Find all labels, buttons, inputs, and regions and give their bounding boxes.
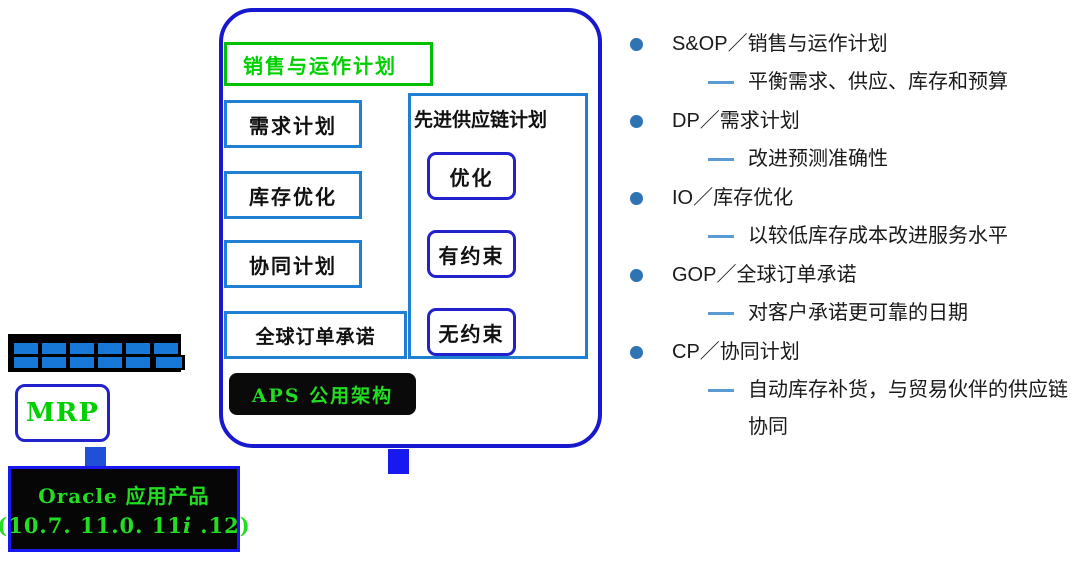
module-box-demand-planning[interactable]: 需求计划 (224, 100, 362, 148)
ascp-box-label: 优化 (450, 162, 494, 191)
list-item: IO／库存优化 以较低库存成本改进服务水平 (624, 178, 1076, 255)
module-box-inventory-optimization[interactable]: 库存优化 (224, 171, 362, 219)
data-grid-cell (156, 357, 182, 368)
bullet-level2-label: 对客户承诺更可靠的日期 (748, 302, 968, 324)
mrp-box[interactable]: MRP (15, 384, 110, 442)
dash-icon (708, 158, 734, 161)
module-box-label: 协同计划 (249, 250, 337, 279)
bullet-level1-label: DP／需求计划 (672, 110, 800, 132)
bullet-level1-label: GOP／全球订单承诺 (672, 264, 856, 286)
sop-box[interactable]: 销售与运作计划 (224, 42, 433, 86)
bullet-dot-icon (630, 346, 643, 359)
bullet-level2: 平衡需求、供应、库存和预算 (624, 64, 1076, 101)
dash-icon (708, 312, 734, 315)
ascp-box-label: 无约束 (439, 318, 505, 347)
data-grid-cell (98, 357, 122, 368)
list-item: GOP／全球订单承诺 对客户承诺更可靠的日期 (624, 255, 1076, 332)
bullet-level2: 改进预测准确性 (624, 141, 1076, 178)
data-grid-cell (14, 357, 38, 368)
data-grid-cell (154, 343, 178, 354)
ascp-box-constrained[interactable]: 有约束 (427, 230, 516, 278)
data-grid-cell (42, 343, 66, 354)
data-grid-bar-tail (152, 355, 185, 370)
bullet-dot-icon (630, 115, 643, 128)
oracle-version-suffix: .12) (192, 513, 251, 538)
bullet-level2: 自动库存补货，与贸易伙伴的供应链协同 (624, 372, 1076, 446)
oracle-version-prefix: (10.7. 11.0. 11 (0, 513, 183, 538)
mrp-box-label: MRP (26, 398, 99, 428)
bullet-level1: S&OP／销售与运作计划 (624, 24, 1076, 64)
list-item: S&OP／销售与运作计划 平衡需求、供应、库存和预算 (624, 24, 1076, 101)
dash-icon (708, 81, 734, 84)
bullet-level1: GOP／全球订单承诺 (624, 255, 1076, 295)
data-grid-cell (42, 357, 66, 368)
oracle-version-label: (10.7. 11.0. 11i .12) (0, 513, 251, 538)
sop-box-label: 销售与运作计划 (227, 50, 397, 79)
bullet-level2-label: 改进预测准确性 (748, 148, 888, 170)
bullet-level1: CP／协同计划 (624, 332, 1076, 372)
data-grid-row (14, 343, 178, 354)
module-box-label: 需求计划 (249, 110, 337, 139)
bullet-level2: 对客户承诺更可靠的日期 (624, 295, 1076, 332)
data-grid-cell (126, 343, 150, 354)
bullet-dot-icon (630, 38, 643, 51)
data-grid-cell (14, 343, 38, 354)
ascp-box-label: 有约束 (439, 240, 505, 269)
aps-common-architecture-label: APS 公用架构 (252, 381, 393, 408)
bullet-dot-icon (630, 269, 643, 282)
oracle-applications-box[interactable]: Oracle 应用产品 (10.7. 11.0. 11i .12) (8, 466, 240, 552)
ascp-box-optimize[interactable]: 优化 (427, 152, 516, 200)
bullet-level1-label: IO／库存优化 (672, 187, 793, 209)
list-item: CP／协同计划 自动库存补货，与贸易伙伴的供应链协同 (624, 332, 1076, 446)
data-grid-cell (70, 343, 94, 354)
benefits-bullet-list: S&OP／销售与运作计划 平衡需求、供应、库存和预算 DP／需求计划 改进预测准… (624, 24, 1076, 446)
module-box-global-order-promising[interactable]: 全球订单承诺 (224, 311, 407, 359)
list-item: DP／需求计划 改进预测准确性 (624, 101, 1076, 178)
bullet-level1: DP／需求计划 (624, 101, 1076, 141)
bullet-level1-label: CP／协同计划 (672, 341, 800, 363)
module-box-label: 库存优化 (249, 181, 337, 210)
slide-canvas: 销售与运作计划 需求计划 库存优化 协同计划 全球订单承诺 先进供应链计划 优化… (0, 0, 1080, 562)
data-grid-cell (126, 357, 150, 368)
bullet-level2-label: 以较低库存成本改进服务水平 (748, 225, 1008, 247)
bullet-level1-label: S&OP／销售与运作计划 (672, 33, 888, 55)
ascp-box-unconstrained[interactable]: 无约束 (427, 308, 516, 356)
module-box-label: 全球订单承诺 (255, 322, 375, 349)
dash-icon (708, 389, 734, 392)
data-grid-cell (98, 343, 122, 354)
oracle-applications-label: Oracle 应用产品 (38, 480, 209, 509)
aps-common-architecture-box[interactable]: APS 公用架构 (229, 373, 416, 415)
bullet-level2: 以较低库存成本改进服务水平 (624, 218, 1076, 255)
oracle-version-italic: i (183, 513, 192, 538)
data-grid-cell (70, 357, 94, 368)
bullet-level2-label: 平衡需求、供应、库存和预算 (748, 71, 1008, 93)
aps-connector-stem (388, 449, 409, 474)
module-box-collaborative-planning[interactable]: 协同计划 (224, 240, 362, 288)
bullet-level1: IO／库存优化 (624, 178, 1076, 218)
bullet-level2-label: 自动库存补货，与贸易伙伴的供应链协同 (748, 379, 1068, 438)
ascp-panel-title: 先进供应链计划 (414, 105, 584, 132)
dash-icon (708, 235, 734, 238)
bullet-dot-icon (630, 192, 643, 205)
